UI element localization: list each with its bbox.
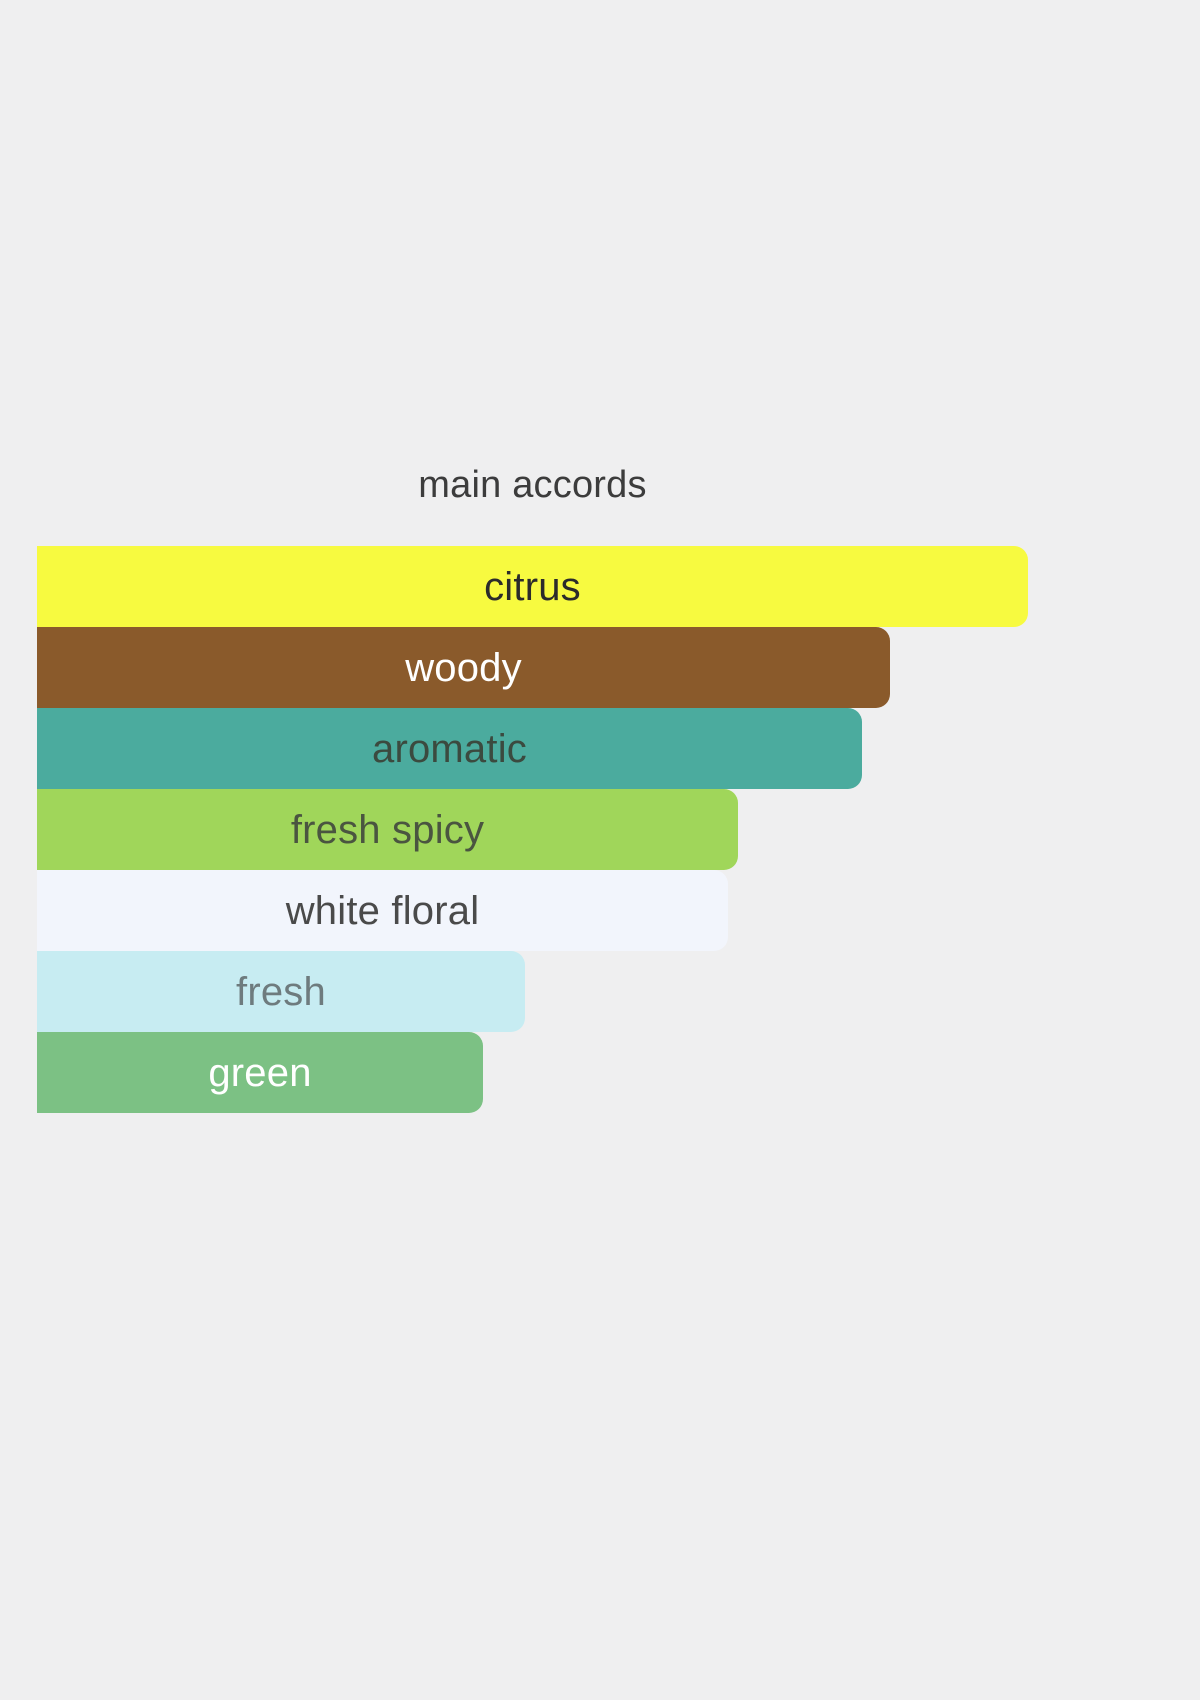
accord-bar[interactable]: green [37,1032,483,1113]
page-title: main accords [0,461,1065,509]
accord-bar-label: white floral [286,889,480,933]
accord-bar-label: green [208,1051,311,1095]
accord-bar-label: fresh spicy [291,808,484,852]
main-accords-widget: main accords citruswoodyaromaticfresh sp… [0,0,1065,1700]
accord-bar[interactable]: woody [37,627,890,708]
accord-bar-list: citruswoodyaromaticfresh spicywhite flor… [0,546,1065,1113]
accord-bar-label: aromatic [372,727,527,771]
accord-bar[interactable]: aromatic [37,708,862,789]
accord-bar[interactable]: fresh [37,951,525,1032]
accord-bar-label: woody [405,646,522,690]
accord-bar[interactable]: white floral [37,870,728,951]
accord-bar[interactable]: fresh spicy [37,789,738,870]
accord-bar[interactable]: citrus [37,546,1028,627]
accord-bar-label: fresh [236,970,326,1014]
accord-bar-label: citrus [484,565,581,609]
